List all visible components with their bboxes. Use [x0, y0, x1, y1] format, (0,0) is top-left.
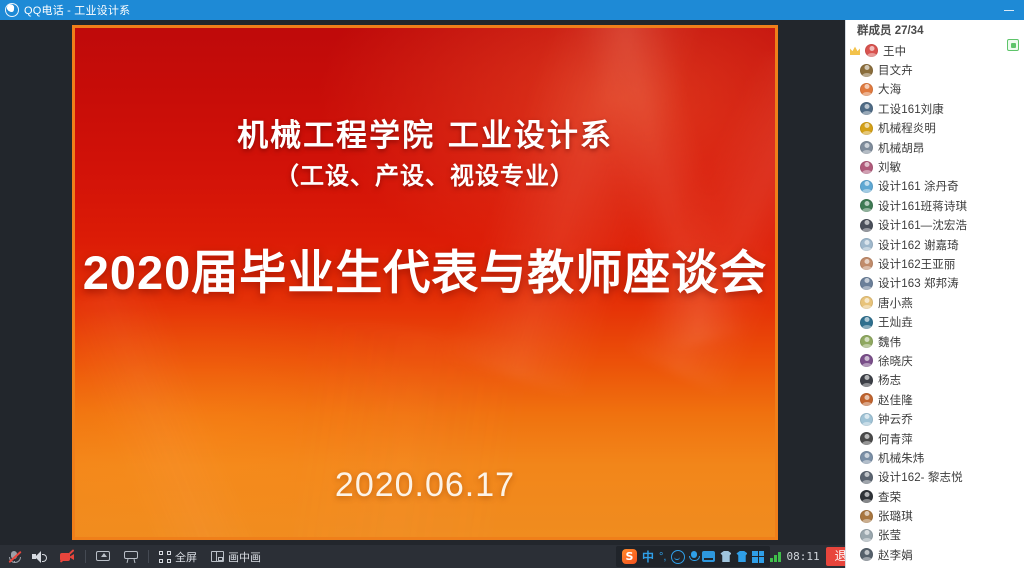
- member-name: 机械朱炜: [878, 450, 924, 466]
- member-name: 赵李娟: [878, 547, 913, 563]
- member-name: 设计161班蒋诗琪: [878, 198, 967, 214]
- member-list-item[interactable]: 设计163 郑邦涛: [846, 274, 1024, 293]
- pip-button[interactable]: 画中画: [204, 545, 268, 568]
- member-name: 设计162- 黎志悦: [878, 469, 963, 485]
- avatar: [860, 471, 873, 484]
- camera-toggle-button[interactable]: [53, 545, 82, 568]
- qq-call-window: QQ电话 - 工业设计系 机械工程学院 工业设计系 （工设、产设、视设专业） 2…: [0, 0, 1024, 568]
- toolbox-icon[interactable]: [720, 551, 731, 562]
- member-list-item[interactable]: 王灿垚: [846, 312, 1024, 331]
- call-timer: 08:11: [787, 550, 820, 563]
- member-name: 机械程炎明: [878, 120, 936, 136]
- avatar: [860, 316, 873, 329]
- avatar: [860, 122, 873, 135]
- member-name: 张莹: [878, 527, 901, 543]
- member-list-item[interactable]: 赵佳隆: [846, 390, 1024, 409]
- member-list-item[interactable]: 设计161—沈宏浩: [846, 216, 1024, 235]
- camera-off-icon: [60, 551, 75, 562]
- avatar: [860, 296, 873, 309]
- member-sidebar: 群成员 27/34 王中目文卉大海工设161刘康机械程炎明机械胡昂刘敏设计161…: [845, 20, 1024, 568]
- member-name: 徐晓庆: [878, 353, 913, 369]
- avatar: [860, 529, 873, 542]
- avatar: [860, 451, 873, 464]
- member-count-header: 群成员 27/34: [846, 20, 1024, 39]
- member-list-item[interactable]: 唐小燕: [846, 293, 1024, 312]
- member-list-item[interactable]: 机械朱炜: [846, 448, 1024, 467]
- member-list-item[interactable]: 大海: [846, 80, 1024, 99]
- fullscreen-button[interactable]: 全屏: [152, 545, 204, 568]
- ime-punctuation-toggle[interactable]: °,: [659, 551, 666, 563]
- avatar: [860, 64, 873, 77]
- avatar: [860, 413, 873, 426]
- member-name: 唐小燕: [878, 295, 913, 311]
- avatar: [860, 257, 873, 270]
- sogou-ime-bar[interactable]: S 中 °,: [616, 546, 770, 567]
- presentation-icon: [124, 551, 138, 563]
- member-list-item[interactable]: 杨志: [846, 371, 1024, 390]
- avatar: [860, 277, 873, 290]
- member-list-item[interactable]: 工设161刘康: [846, 99, 1024, 118]
- avatar: [860, 374, 873, 387]
- member-name: 何青萍: [878, 431, 913, 447]
- member-name: 设计162王亚丽: [878, 256, 956, 272]
- member-list-item[interactable]: 设计161班蒋诗琪: [846, 196, 1024, 215]
- toolbar-divider-2: [148, 550, 149, 563]
- voice-input-icon[interactable]: [690, 551, 697, 562]
- avatar: [860, 219, 873, 232]
- member-name: 设计161—沈宏浩: [878, 217, 967, 233]
- member-list-item[interactable]: 徐晓庆: [846, 351, 1024, 370]
- slide-organization-line: 机械工程学院 工业设计系: [75, 110, 775, 155]
- avatar: [860, 161, 873, 174]
- fullscreen-icon: [159, 551, 171, 563]
- avatar: [860, 83, 873, 96]
- avatar: [860, 548, 873, 561]
- member-list-item[interactable]: 设计161 涂丹奇: [846, 177, 1024, 196]
- speaker-icon: [32, 551, 46, 563]
- member-list-item[interactable]: 魏伟: [846, 332, 1024, 351]
- member-list-item[interactable]: 王中: [846, 41, 1024, 60]
- slide-majors-line: （工设、产设、视设专业）: [75, 156, 775, 191]
- member-name: 工设161刘康: [878, 101, 944, 117]
- member-name: 机械胡昂: [878, 140, 924, 156]
- window-controls: [994, 0, 1024, 20]
- picture-in-picture-icon: [211, 551, 224, 562]
- avatar: [860, 102, 873, 115]
- member-list-item[interactable]: 张璐琪: [846, 506, 1024, 525]
- presentation-slide: 机械工程学院 工业设计系 （工设、产设、视设专业） 2020届毕业生代表与教师座…: [75, 28, 775, 537]
- avatar: [860, 510, 873, 523]
- invite-member-icon[interactable]: [1007, 39, 1019, 51]
- member-name: 目文卉: [878, 62, 913, 78]
- smiley-icon[interactable]: [671, 550, 685, 564]
- presentation-button[interactable]: [117, 545, 145, 568]
- member-list-item[interactable]: 张莹: [846, 526, 1024, 545]
- avatar: [860, 490, 873, 503]
- minimize-button[interactable]: [994, 0, 1024, 20]
- apps-icon[interactable]: [752, 551, 764, 563]
- owner-crown-icon: [850, 46, 860, 55]
- member-list-item[interactable]: 机械胡昂: [846, 138, 1024, 157]
- screen-share-button[interactable]: [89, 545, 117, 568]
- speaker-toggle-button[interactable]: [25, 545, 53, 568]
- member-list-item[interactable]: 目文卉: [846, 60, 1024, 79]
- member-name: 王灿垚: [878, 314, 913, 330]
- shared-screen-region[interactable]: 机械工程学院 工业设计系 （工设、产设、视设专业） 2020届毕业生代表与教师座…: [72, 25, 778, 540]
- avatar: [860, 141, 873, 154]
- avatar: [860, 354, 873, 367]
- avatar: [860, 238, 873, 251]
- member-name: 设计161 涂丹奇: [878, 178, 959, 194]
- member-list-item[interactable]: 查荣: [846, 487, 1024, 506]
- member-list: 王中目文卉大海工设161刘康机械程炎明机械胡昂刘敏设计161 涂丹奇设计161班…: [846, 39, 1024, 565]
- signal-strength-icon: [770, 551, 781, 562]
- toolbar-divider: [85, 550, 86, 563]
- slide-main-title: 2020届毕业生代表与教师座谈会: [75, 234, 775, 303]
- member-name: 刘敏: [878, 159, 901, 175]
- pip-label: 画中画: [228, 549, 261, 565]
- avatar: [860, 335, 873, 348]
- member-list-item[interactable]: 设计162- 黎志悦: [846, 468, 1024, 487]
- member-list-item[interactable]: 何青萍: [846, 429, 1024, 448]
- avatar: [860, 432, 873, 445]
- avatar: [860, 199, 873, 212]
- member-list-item[interactable]: 赵李娟: [846, 545, 1024, 564]
- member-name: 赵佳隆: [878, 392, 913, 408]
- member-name: 钟云乔: [878, 411, 913, 427]
- member-name: 设计163 郑邦涛: [878, 275, 959, 291]
- member-list-item[interactable]: 刘敏: [846, 157, 1024, 176]
- soft-keyboard-icon[interactable]: [702, 551, 715, 562]
- member-name: 设计162 谢嘉琦: [878, 237, 959, 253]
- member-list-item[interactable]: 设计162 谢嘉琦: [846, 235, 1024, 254]
- member-name: 大海: [878, 81, 901, 97]
- fullscreen-label: 全屏: [175, 549, 197, 565]
- member-name: 张璐琪: [878, 508, 913, 524]
- qq-penguin-icon: [5, 3, 19, 17]
- ime-mode-label[interactable]: 中: [642, 548, 654, 565]
- avatar: [860, 393, 873, 406]
- screen-share-icon: [96, 551, 110, 563]
- title-bar: QQ电话 - 工业设计系: [0, 0, 1024, 20]
- sogou-logo-icon[interactable]: S: [622, 549, 637, 564]
- member-list-item[interactable]: 机械程炎明: [846, 119, 1024, 138]
- microphone-muted-icon: [10, 551, 18, 563]
- member-name: 查荣: [878, 489, 901, 505]
- member-name: 魏伟: [878, 334, 901, 350]
- mic-toggle-button[interactable]: [0, 545, 25, 568]
- slide-date: 2020.06.17: [75, 466, 775, 505]
- video-stage: 机械工程学院 工业设计系 （工设、产设、视设专业） 2020届毕业生代表与教师座…: [0, 20, 845, 545]
- window-title: QQ电话 - 工业设计系: [24, 2, 130, 18]
- avatar: [865, 44, 878, 57]
- member-name: 杨志: [878, 372, 901, 388]
- avatar: [860, 180, 873, 193]
- member-list-item[interactable]: 钟云乔: [846, 409, 1024, 428]
- member-name: 王中: [883, 43, 906, 59]
- member-list-item[interactable]: 设计162王亚丽: [846, 254, 1024, 273]
- skin-icon[interactable]: [736, 551, 747, 562]
